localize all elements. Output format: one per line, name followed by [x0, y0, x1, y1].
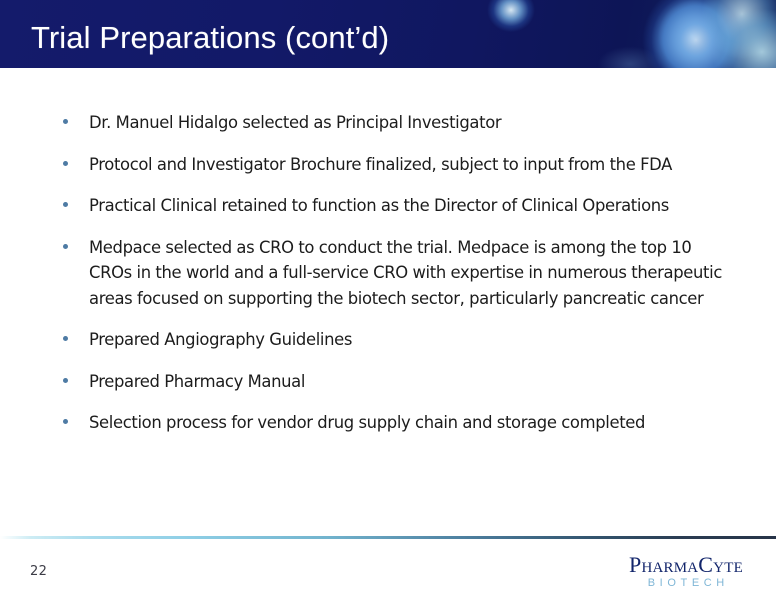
bullet-dot-icon [63, 202, 68, 207]
list-item: Dr. Manuel Hidalgo selected as Principal… [58, 110, 728, 136]
brand-logo: PharmaCyte BIOTECH [613, 554, 759, 589]
list-item-text: Medpace selected as CRO to conduct the t… [89, 238, 722, 308]
bullet-dot-icon [63, 244, 68, 249]
slide-content-area: Dr. Manuel Hidalgo selected as Principal… [0, 68, 776, 530]
list-item-text: Prepared Pharmacy Manual [89, 372, 305, 391]
list-item-text: Protocol and Investigator Brochure final… [89, 155, 672, 174]
brand-subtitle: BIOTECH [613, 577, 759, 589]
footer-divider [0, 536, 776, 539]
bullet-dot-icon [63, 336, 68, 341]
bullet-dot-icon [63, 119, 68, 124]
bullet-dot-icon [63, 378, 68, 383]
list-item: Protocol and Investigator Brochure final… [58, 152, 728, 178]
list-item-text: Selection process for vendor drug supply… [89, 413, 645, 432]
bullet-dot-icon [63, 161, 68, 166]
list-item: Medpace selected as CRO to conduct the t… [58, 235, 728, 312]
slide-title: Trial Preparations (cont’d) [31, 20, 389, 56]
brand-name: PharmaCyte [613, 554, 759, 576]
page-number: 22 [30, 564, 47, 579]
list-item-text: Prepared Angiography Guidelines [89, 330, 352, 349]
list-item: Practical Clinical retained to function … [58, 193, 728, 219]
list-item: Prepared Angiography Guidelines [58, 327, 728, 353]
list-item-text: Dr. Manuel Hidalgo selected as Principal… [89, 113, 501, 132]
list-item-text: Practical Clinical retained to function … [89, 196, 669, 215]
bullet-dot-icon [63, 419, 68, 424]
list-item: Prepared Pharmacy Manual [58, 369, 728, 395]
list-item: Selection process for vendor drug supply… [58, 410, 728, 436]
slide-header-banner: Trial Preparations (cont’d) [0, 0, 776, 68]
bullet-list: Dr. Manuel Hidalgo selected as Principal… [58, 110, 728, 436]
